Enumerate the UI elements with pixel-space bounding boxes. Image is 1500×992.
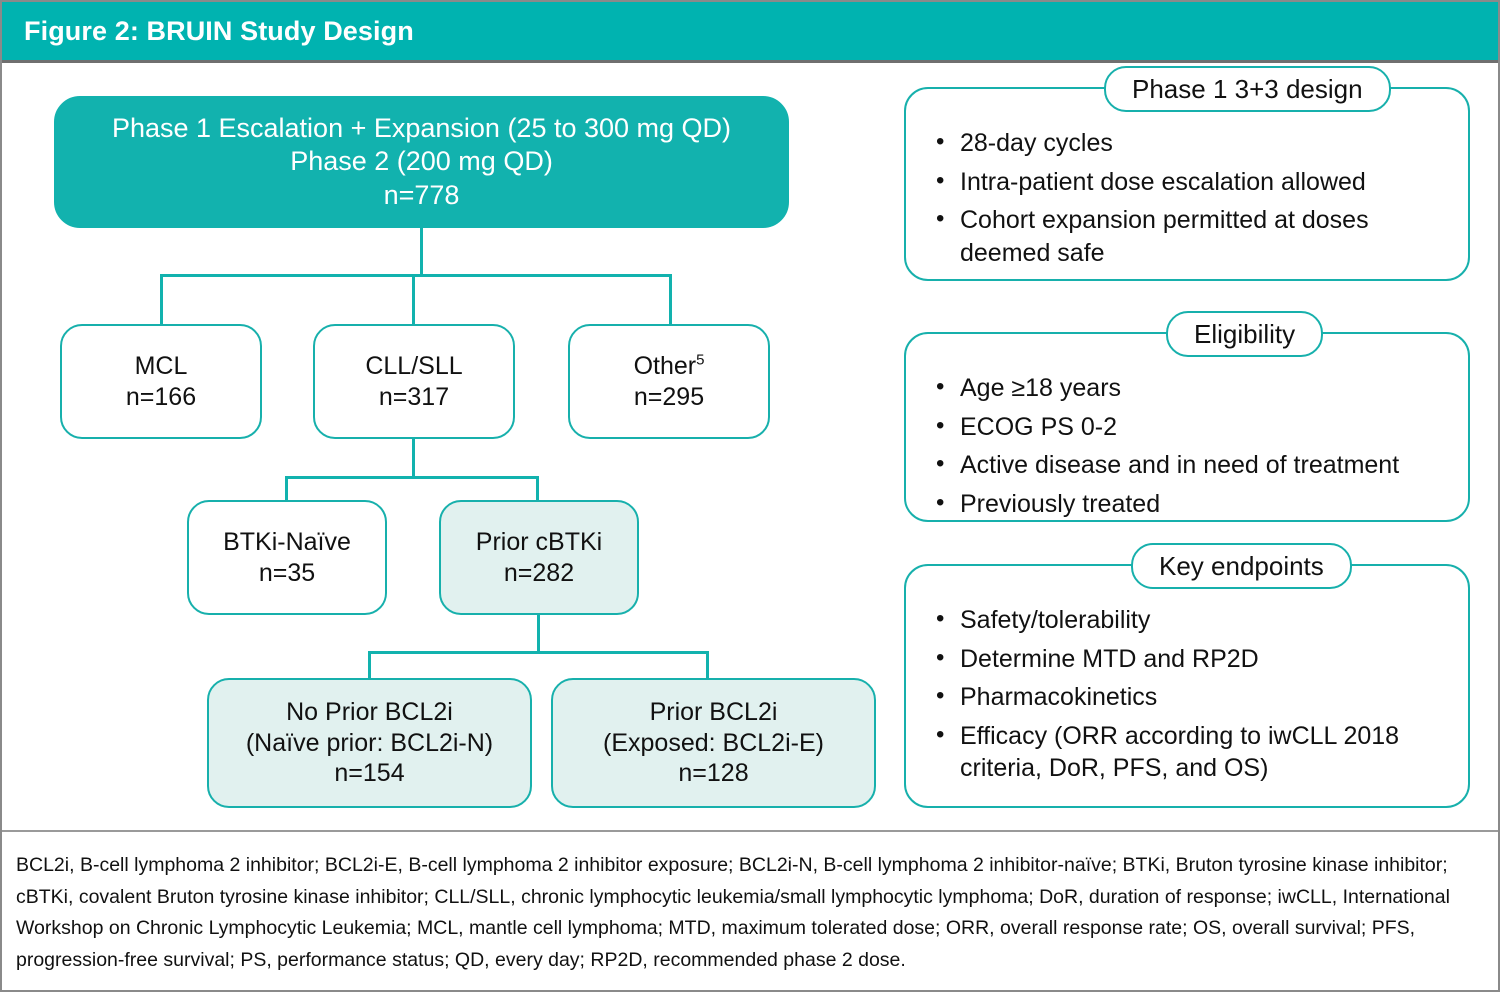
node-root-line1: Phase 1 Escalation + Expansion (25 to 30… bbox=[112, 112, 731, 145]
node-phase-escalation-expansion[interactable]: Phase 1 Escalation + Expansion (25 to 30… bbox=[54, 96, 789, 228]
figure-frame: Figure 2: BRUIN Study Design Phase 1 Esc… bbox=[0, 0, 1500, 992]
node-root-count: n=778 bbox=[384, 179, 460, 212]
connector-tier3-bus bbox=[285, 476, 539, 479]
connector-tier3-right bbox=[536, 476, 539, 502]
connector-tier2-bus bbox=[160, 274, 672, 277]
panel-phase1-design: Phase 1 3+3 design 28-day cycles Intra-p… bbox=[904, 87, 1470, 281]
node-prior-bcl2i-count: n=128 bbox=[678, 758, 748, 789]
panel-key-endpoints-body: Safety/tolerability Determine MTD and RP… bbox=[906, 566, 1468, 805]
node-prior-cbtki-count: n=282 bbox=[504, 558, 574, 589]
node-other[interactable]: Other5 n=295 bbox=[568, 324, 770, 439]
panel-eligibility-title: Eligibility bbox=[1166, 311, 1323, 357]
list-item: Intra-patient dose escalation allowed bbox=[932, 166, 1448, 199]
node-btki-naive[interactable]: BTKi-Naïve n=35 bbox=[187, 500, 387, 615]
node-prior-cbtki[interactable]: Prior cBTKi n=282 bbox=[439, 500, 639, 615]
list-item: ECOG PS 0-2 bbox=[932, 411, 1448, 444]
flow-chart: Phase 1 Escalation + Expansion (25 to 30… bbox=[2, 63, 882, 823]
node-prior-cbtki-label: Prior cBTKi bbox=[476, 527, 602, 558]
node-no-prior-bcl2i-line1: No Prior BCL2i bbox=[286, 697, 453, 728]
list-item: Cohort expansion permitted at doses deem… bbox=[932, 204, 1448, 269]
node-root-line2: Phase 2 (200 mg QD) bbox=[290, 145, 553, 178]
node-btki-naive-count: n=35 bbox=[259, 558, 315, 589]
figure-title: Figure 2: BRUIN Study Design bbox=[2, 16, 414, 47]
node-prior-bcl2i-line1: Prior BCL2i bbox=[650, 697, 778, 728]
panel-key-endpoints: Key endpoints Safety/tolerability Determ… bbox=[904, 564, 1470, 808]
node-other-label: Other5 bbox=[634, 351, 705, 382]
connector-tier2-left bbox=[160, 274, 163, 326]
node-mcl-label: MCL bbox=[135, 351, 188, 382]
panel-eligibility-body: Age ≥18 years ECOG PS 0-2 Active disease… bbox=[906, 334, 1468, 540]
list-item: Determine MTD and RP2D bbox=[932, 643, 1448, 676]
connector-tier4-bus bbox=[368, 651, 709, 654]
panel-key-endpoints-title: Key endpoints bbox=[1131, 543, 1352, 589]
node-btki-naive-label: BTKi-Naïve bbox=[223, 527, 351, 558]
connector-tier4-right bbox=[706, 651, 709, 680]
connector-tier2-mid bbox=[412, 274, 415, 326]
footnote-separator bbox=[2, 830, 1500, 832]
list-item: 28-day cycles bbox=[932, 127, 1448, 160]
list-item: Efficacy (ORR according to iwCLL 2018 cr… bbox=[932, 720, 1448, 785]
node-mcl[interactable]: MCL n=166 bbox=[60, 324, 262, 439]
node-prior-bcl2i[interactable]: Prior BCL2i (Exposed: BCL2i-E) n=128 bbox=[551, 678, 876, 808]
connector-cll-stem bbox=[412, 439, 415, 478]
node-no-prior-bcl2i-line2: (Naïve prior: BCL2i-N) bbox=[246, 728, 493, 759]
node-other-count: n=295 bbox=[634, 382, 704, 413]
list-item: Safety/tolerability bbox=[932, 604, 1448, 637]
connector-root-stem bbox=[420, 228, 423, 276]
figure-header: Figure 2: BRUIN Study Design bbox=[2, 2, 1500, 60]
node-other-superscript: 5 bbox=[696, 352, 704, 369]
node-prior-bcl2i-line2: (Exposed: BCL2i-E) bbox=[603, 728, 824, 759]
panel-phase1-design-body: 28-day cycles Intra-patient dose escalat… bbox=[906, 89, 1468, 289]
node-no-prior-bcl2i-count: n=154 bbox=[334, 758, 404, 789]
connector-tier3-left bbox=[285, 476, 288, 502]
node-cll-sll-count: n=317 bbox=[379, 382, 449, 413]
connector-prior-stem bbox=[537, 615, 540, 653]
panel-phase1-design-list: 28-day cycles Intra-patient dose escalat… bbox=[932, 127, 1448, 269]
list-item: Pharmacokinetics bbox=[932, 681, 1448, 714]
node-no-prior-bcl2i[interactable]: No Prior BCL2i (Naïve prior: BCL2i-N) n=… bbox=[207, 678, 532, 808]
panel-key-endpoints-list: Safety/tolerability Determine MTD and RP… bbox=[932, 604, 1448, 785]
node-cll-sll-label: CLL/SLL bbox=[365, 351, 462, 382]
node-other-label-text: Other bbox=[634, 352, 697, 380]
node-mcl-count: n=166 bbox=[126, 382, 196, 413]
panel-eligibility-list: Age ≥18 years ECOG PS 0-2 Active disease… bbox=[932, 372, 1448, 520]
list-item: Age ≥18 years bbox=[932, 372, 1448, 405]
panel-phase1-design-title: Phase 1 3+3 design bbox=[1104, 66, 1391, 112]
list-item: Previously treated bbox=[932, 488, 1448, 521]
list-item: Active disease and in need of treatment bbox=[932, 449, 1448, 482]
footnote-abbreviations: BCL2i, B-cell lymphoma 2 inhibitor; BCL2… bbox=[2, 838, 1500, 976]
connector-tier4-left bbox=[368, 651, 371, 680]
connector-tier2-right bbox=[669, 274, 672, 326]
panel-eligibility: Eligibility Age ≥18 years ECOG PS 0-2 Ac… bbox=[904, 332, 1470, 522]
node-cll-sll[interactable]: CLL/SLL n=317 bbox=[313, 324, 515, 439]
